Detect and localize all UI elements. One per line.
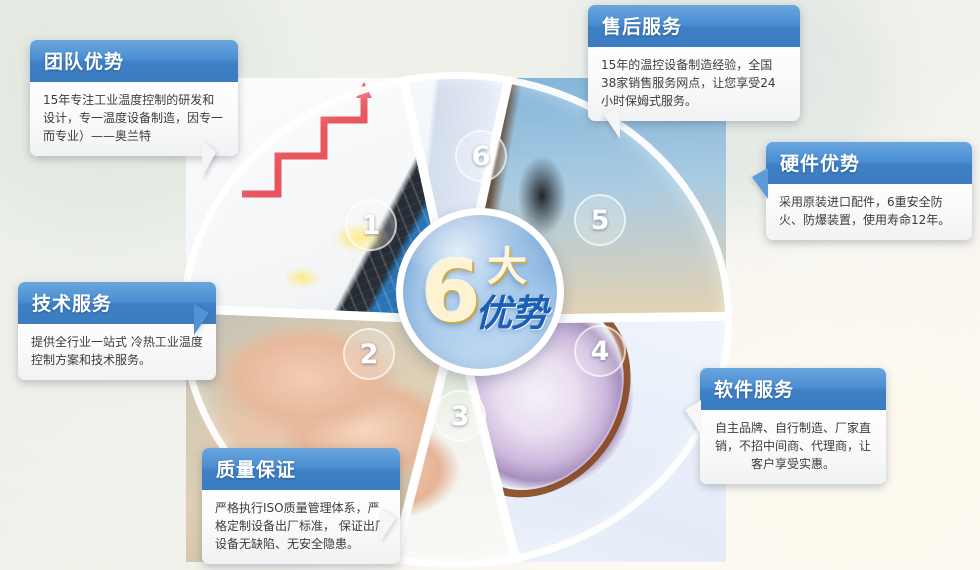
callout-quality-tail	[380, 508, 396, 542]
number-badge-1[interactable]: 1	[345, 199, 397, 251]
number-badge-3[interactable]: 3	[434, 390, 486, 442]
callout-after-sales-tail	[604, 105, 620, 139]
callout-team-advantage[interactable]: 团队优势 15年专注工业温度控制的研发和设计，专一温度设备制造，因专一而专业）—…	[30, 40, 238, 156]
callout-team-title: 团队优势	[30, 40, 238, 82]
center-youshi-text: 优势	[475, 293, 547, 333]
center-number: 6	[421, 249, 481, 335]
callout-software[interactable]: 软件服务 自主品牌、自行制造、厂家直销，不招中间商、代理商，让客户享受实惠。	[700, 368, 886, 484]
callout-technical-body: 技术服务 提供全行业一站式 冷热工业温度控制方案和技术服务。	[18, 282, 216, 380]
callout-team-tail	[202, 140, 216, 178]
callout-hardware-title: 硬件优势	[766, 142, 972, 184]
callout-technical[interactable]: 技术服务 提供全行业一站式 冷热工业温度控制方案和技术服务。	[18, 282, 216, 380]
callout-hardware-tail	[752, 168, 768, 199]
callout-quality-title: 质量保证	[202, 448, 400, 490]
center-blue-disc: 6 大 优势	[403, 215, 557, 369]
callout-team-body: 团队优势 15年专注工业温度控制的研发和设计，专一温度设备制造，因专一而专业）—…	[30, 40, 238, 156]
number-badge-4[interactable]: 4	[574, 325, 626, 377]
callout-technical-text: 提供全行业一站式 冷热工业温度控制方案和技术服务。	[18, 324, 216, 380]
callout-after-sales-body: 售后服务 15年的温控设备制造经验，全国38家销售服务网点，让您享受24小时保姆…	[588, 5, 800, 121]
callout-software-body: 软件服务 自主品牌、自行制造、厂家直销，不招中间商、代理商，让客户享受实惠。	[700, 368, 886, 484]
callout-quality-body: 质量保证 严格执行ISO质量管理体系，严格定制设备出厂标准， 保证出厂设备无缺陷…	[202, 448, 400, 564]
callout-quality[interactable]: 质量保证 严格执行ISO质量管理体系，严格定制设备出厂标准， 保证出厂设备无缺陷…	[202, 448, 400, 564]
number-badge-2[interactable]: 2	[343, 328, 395, 380]
callout-software-text: 自主品牌、自行制造、厂家直销，不招中间商、代理商，让客户享受实惠。	[700, 410, 886, 484]
callout-hardware-text: 采用原装进口配件，6重安全防火、防爆装置，使用寿命12年。	[766, 184, 972, 240]
callout-technical-tail	[194, 304, 209, 335]
callout-hardware[interactable]: 硬件优势 采用原装进口配件，6重安全防火、防爆装置，使用寿命12年。	[766, 142, 972, 240]
callout-software-tail	[685, 400, 701, 434]
infographic-canvas: 6 大 优势 1 2 3 4 5 6 团队优势 15年专注工业温度控制的研发和设…	[0, 0, 980, 570]
callout-after-sales[interactable]: 售后服务 15年的温控设备制造经验，全国38家销售服务网点，让您享受24小时保姆…	[588, 5, 800, 121]
callout-after-sales-title: 售后服务	[588, 5, 800, 47]
callout-hardware-body: 硬件优势 采用原装进口配件，6重安全防火、防爆装置，使用寿命12年。	[766, 142, 972, 240]
callout-quality-text: 严格执行ISO质量管理体系，严格定制设备出厂标准， 保证出厂设备无缺陷、无安全隐…	[202, 490, 400, 564]
number-badge-6[interactable]: 6	[455, 130, 507, 182]
callout-software-title: 软件服务	[700, 368, 886, 410]
number-badge-5[interactable]: 5	[574, 194, 626, 246]
callout-technical-title: 技术服务	[18, 282, 216, 324]
center-badge[interactable]: 6 大 优势	[396, 208, 564, 376]
center-da-character: 大	[487, 247, 527, 287]
